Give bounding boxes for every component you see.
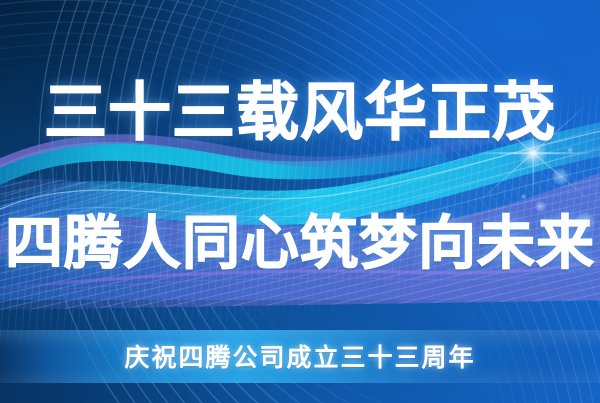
title-line-1: 三十三载风华正茂 [0, 62, 600, 153]
subtitle-text: 庆祝四腾公司成立三十三周年 [0, 338, 600, 374]
title-line-2: 四腾人同心筑梦向未来 [0, 196, 600, 280]
anniversary-banner: 三十三载风华正茂 四腾人同心筑梦向未来 庆祝四腾公司成立三十三周年 [0, 0, 600, 403]
